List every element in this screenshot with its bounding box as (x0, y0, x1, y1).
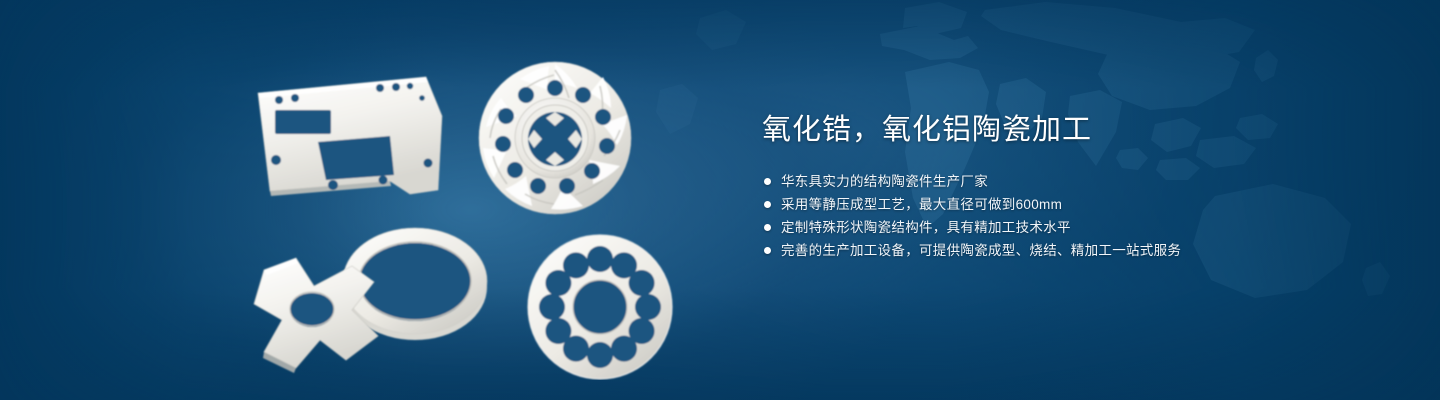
list-item: 华东具实力的结构陶瓷件生产厂家 (764, 170, 1382, 193)
product-image-group (230, 30, 730, 380)
list-item: 定制特殊形状陶瓷结构件，具有精加工技术水平 (764, 216, 1382, 239)
feature-text: 采用等静压成型工艺，最大直径可做到600mm (781, 193, 1062, 216)
feature-text: 华东具实力的结构陶瓷件生产厂家 (781, 170, 988, 193)
ceramic-perforated-disc (528, 235, 672, 379)
bullet-dot-icon (764, 201, 771, 208)
ceramic-impeller (479, 62, 631, 214)
ceramic-plate (258, 77, 442, 196)
bullet-dot-icon (764, 224, 771, 231)
feature-list: 华东具实力的结构陶瓷件生产厂家 采用等静压成型工艺，最大直径可做到600mm 定… (764, 170, 1382, 262)
feature-text: 定制特殊形状陶瓷结构件，具有精加工技术水平 (781, 216, 1071, 239)
list-item: 采用等静压成型工艺，最大直径可做到600mm (764, 193, 1382, 216)
bullet-dot-icon (764, 178, 771, 185)
feature-text: 完善的生产加工设备，可提供陶瓷成型、烧结、精加工一站式服务 (781, 239, 1181, 262)
banner-copy: 氧化锆，氧化铝陶瓷加工 华东具实力的结构陶瓷件生产厂家 采用等静压成型工艺，最大… (762, 112, 1382, 262)
bullet-dot-icon (764, 247, 771, 254)
banner-headline: 氧化锆，氧化铝陶瓷加工 (762, 112, 1382, 148)
promo-banner: 氧化锆，氧化铝陶瓷加工 华东具实力的结构陶瓷件生产厂家 采用等静压成型工艺，最大… (0, 0, 1440, 400)
list-item: 完善的生产加工设备，可提供陶瓷成型、烧结、精加工一站式服务 (764, 239, 1382, 262)
